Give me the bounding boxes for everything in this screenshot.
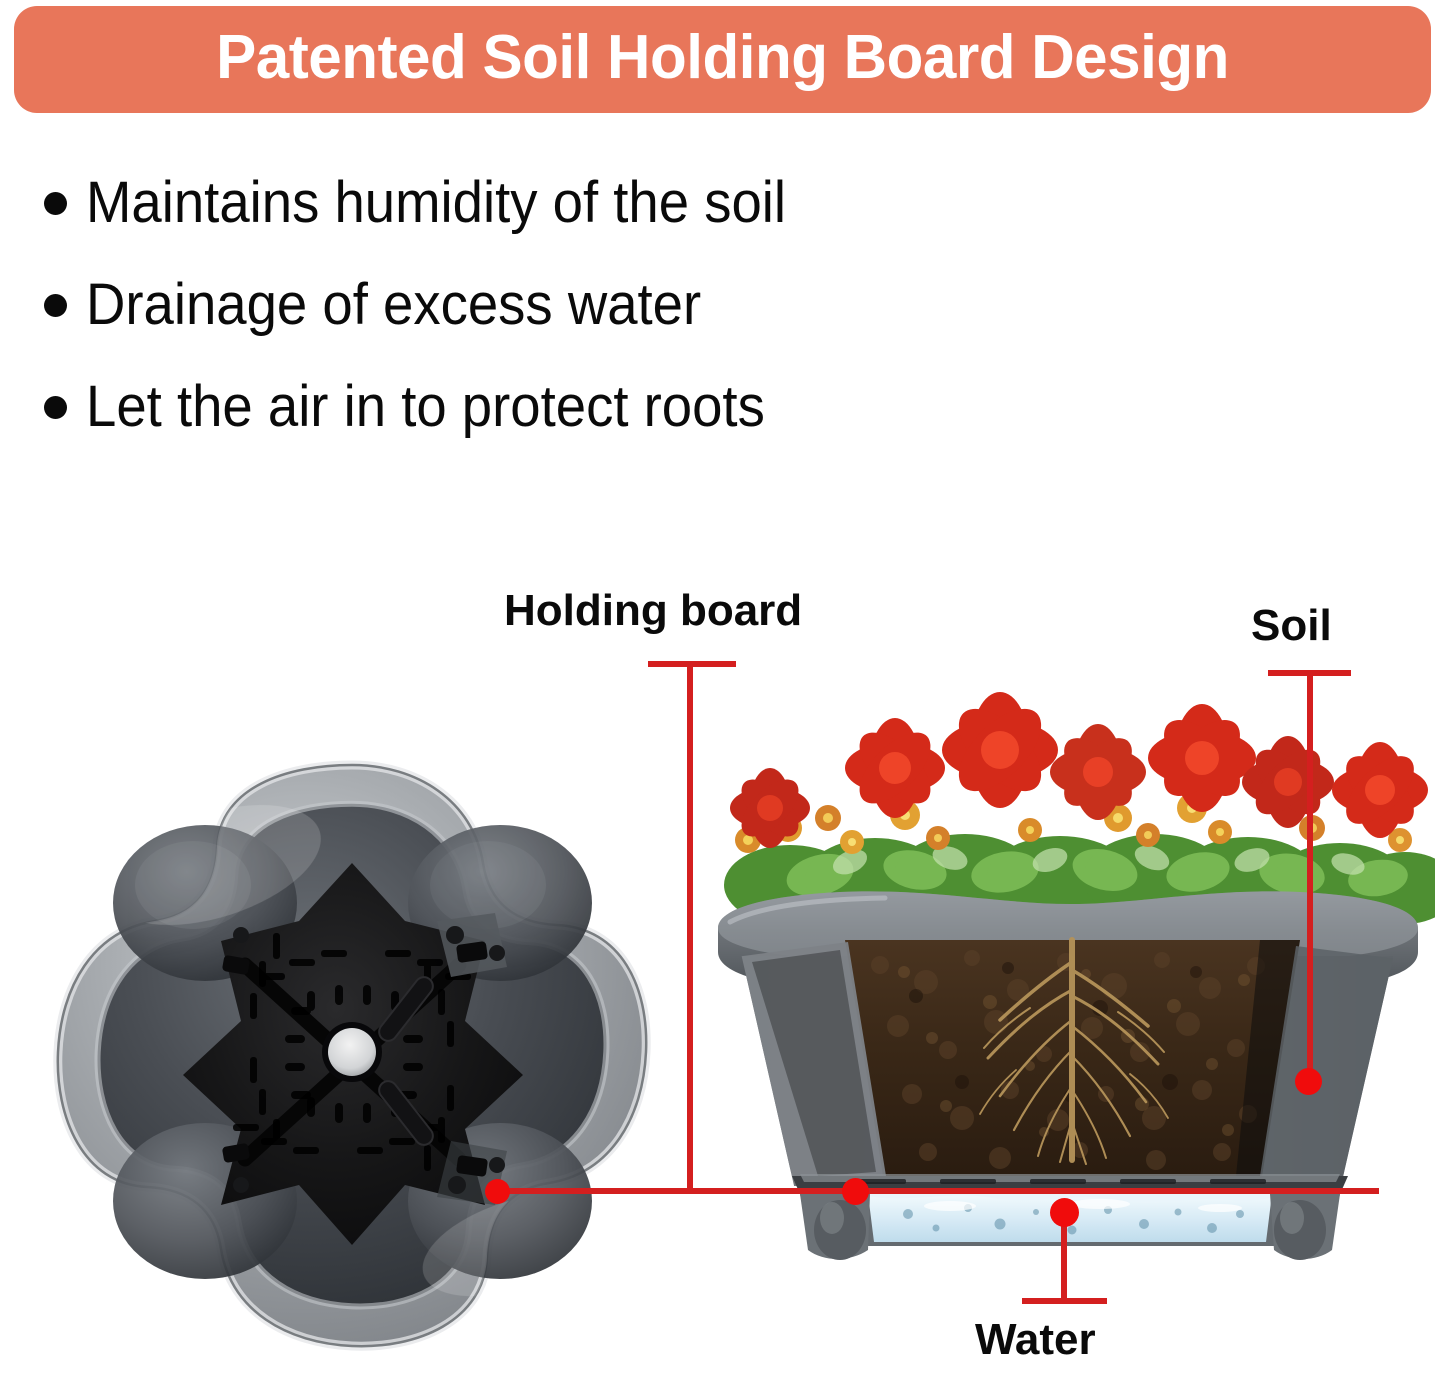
- leader-line-soil: [1307, 670, 1313, 1082]
- feature-text: Maintains humidity of the soil: [86, 174, 786, 232]
- leader-dot-soil: [1295, 1068, 1322, 1095]
- planter-cross-section: [700, 690, 1435, 1270]
- leader-dot-section-board: [842, 1178, 869, 1205]
- center-drain-hole: [328, 1028, 376, 1076]
- quatrefoil-planter-top-view: [45, 745, 660, 1360]
- list-item: Maintains humidity of the soil: [44, 152, 1144, 254]
- feature-text: Let the air in to protect roots: [86, 378, 765, 436]
- feature-text: Drainage of excess water: [86, 276, 701, 334]
- page-title: Patented Soil Holding Board Design: [35, 6, 1409, 113]
- chrysanthemum-flowers: [724, 692, 1435, 925]
- infographic-page: Patented Soil Holding Board Design Maint…: [0, 0, 1435, 1375]
- leader-line-holding-board: [687, 661, 693, 1191]
- list-item: Let the air in to protect roots: [44, 356, 1144, 458]
- bullet-dot-icon: [44, 192, 67, 215]
- feature-list: Maintains humidity of the soil Drainage …: [44, 152, 1144, 458]
- bullet-dot-icon: [44, 396, 67, 419]
- leader-bridge-holding-board: [494, 1188, 1379, 1194]
- list-item: Drainage of excess water: [44, 254, 1144, 356]
- header-banner: Patented Soil Holding Board Design: [14, 6, 1431, 113]
- leader-dot-water: [1050, 1198, 1079, 1227]
- leader-dot-top-view-board: [485, 1179, 510, 1204]
- callout-label-water: Water: [975, 1318, 1096, 1362]
- leader-tbar-water: [1022, 1298, 1107, 1304]
- callout-label-soil: Soil: [1251, 604, 1332, 648]
- callout-label-holding-board: Holding board: [504, 589, 802, 633]
- bullet-dot-icon: [44, 294, 67, 317]
